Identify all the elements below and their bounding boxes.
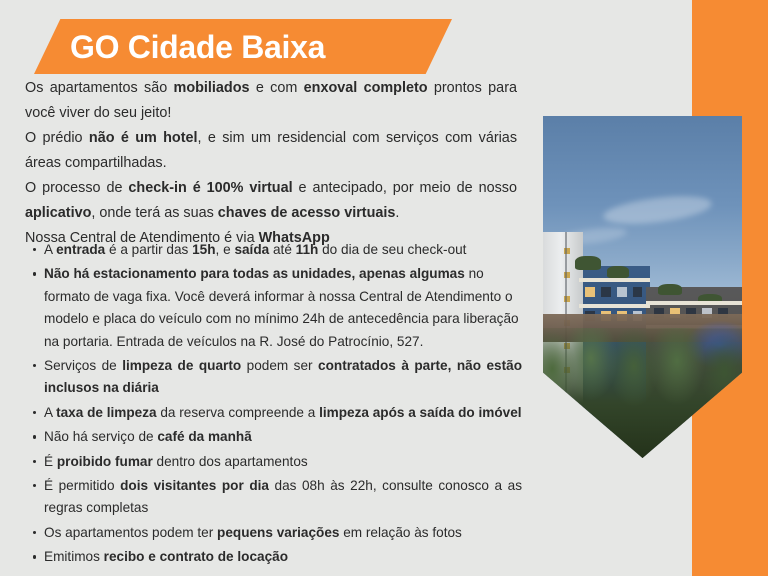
rule-text: em relação às fotos — [339, 525, 461, 540]
window-pane — [585, 287, 595, 297]
rule-list-item: Não há serviço de café da manhã — [30, 426, 522, 448]
rule-emphasis: proibido fumar — [57, 454, 153, 469]
intro-p3-text-1: O processo de — [25, 180, 128, 196]
rule-text: Não há serviço de — [44, 429, 157, 444]
rooftop-greenery — [575, 256, 601, 270]
intro-p1-text-2: e com — [250, 80, 304, 96]
rule-list-item: É permitido dois visitantes por dia das … — [30, 475, 522, 520]
rule-text: do dia de seu check-out — [318, 242, 466, 257]
rule-emphasis: dois visitantes por dia — [120, 478, 269, 493]
rule-emphasis: Não há estacionamento para todas as unid… — [44, 266, 465, 281]
rule-text: A — [44, 405, 56, 420]
intro-p3-bold-3: chaves de acesso virtuais — [218, 205, 396, 221]
rule-list-item: A taxa de limpeza da reserva compreende … — [30, 402, 522, 424]
rule-text: Serviços de — [44, 358, 122, 373]
intro-p3-text-2: e antecipado, por meio de nosso — [293, 180, 517, 196]
rule-list-item: É proibido fumar dentro dos apartamentos — [30, 451, 522, 473]
page-title: GO Cidade Baixa — [70, 31, 325, 63]
intro-p3-bold-2: aplicativo — [25, 205, 91, 221]
tower-window-slot — [564, 296, 570, 302]
tower-window-slot — [564, 272, 570, 278]
intro-p1-text-1: Os apartamentos são — [25, 80, 174, 96]
rule-emphasis: saída — [234, 242, 269, 257]
intro-p3-text-3: , onde terá as suas — [91, 205, 217, 221]
rule-emphasis: pequens variações — [217, 525, 339, 540]
rule-text: da reserva compreende a — [157, 405, 319, 420]
intro-p3-text-4: . — [395, 205, 399, 221]
tower-window-slot — [564, 248, 570, 254]
rule-emphasis: 11h — [296, 242, 319, 257]
rule-emphasis: 15h — [192, 242, 215, 257]
window-pane — [617, 287, 627, 297]
rule-list-item: Não há estacionamento para todas as unid… — [30, 263, 522, 353]
facade-cornice — [579, 304, 651, 308]
rule-list-item: Serviços de limpeza de quarto podem ser … — [30, 355, 522, 400]
rule-list-item: Emitimos recibo e contrato de locação — [30, 546, 522, 568]
intro-paragraph-3: O processo de check-in é 100% virtual e … — [25, 176, 517, 226]
rule-emphasis: limpeza após a saída do imóvel — [319, 405, 521, 420]
facade-cornice — [579, 278, 651, 282]
rule-text: , e — [216, 242, 235, 257]
header-banner: GO Cidade Baixa — [34, 19, 452, 74]
rule-text: Emitimos — [44, 549, 104, 564]
intro-p1-bold-2: enxoval completo — [304, 80, 428, 96]
rule-list-item: Os apartamentos podem ter pequens variaç… — [30, 522, 522, 544]
intro-p1-bold-1: mobiliados — [174, 80, 250, 96]
rule-text: A — [44, 242, 56, 257]
facade-cornice — [646, 301, 742, 305]
window-pane — [601, 287, 611, 297]
window-pane — [633, 287, 643, 297]
rule-text: é a partir das — [105, 242, 192, 257]
rule-emphasis: café da manhã — [157, 429, 251, 444]
intro-text-block: Os apartamentos são mobiliados e com enx… — [25, 76, 517, 251]
rule-emphasis: limpeza de quarto — [122, 358, 241, 373]
intro-p2-bold-1: não é um hotel — [89, 130, 198, 146]
promo-page: GO Cidade Baixa Os apartamentos são mobi… — [0, 0, 768, 576]
rule-text: até — [269, 242, 295, 257]
rule-text: É permitido — [44, 478, 120, 493]
rule-list-item: A entrada é a partir das 15h, e saída at… — [30, 239, 522, 261]
rooftop-greenery — [607, 266, 629, 278]
intro-paragraph-2: O prédio não é um hotel, e sim um reside… — [25, 126, 517, 176]
rooftop-greenery — [658, 284, 682, 296]
rule-emphasis: entrada — [56, 242, 105, 257]
intro-p3-bold-1: check-in é 100% virtual — [128, 180, 292, 196]
intro-paragraph-1: Os apartamentos são mobiliados e com enx… — [25, 76, 517, 126]
rules-bullet-list: A entrada é a partir das 15h, e saída at… — [30, 239, 522, 571]
rule-text: Os apartamentos podem ter — [44, 525, 217, 540]
intro-p2-text-1: O prédio — [25, 130, 89, 146]
rule-emphasis: taxa de limpeza — [56, 405, 157, 420]
cloud-wisp-a — [602, 191, 714, 228]
rule-text: É — [44, 454, 57, 469]
rule-text: podem ser — [241, 358, 318, 373]
rule-emphasis: recibo e contrato de locação — [104, 549, 288, 564]
rule-text: dentro dos apartamentos — [153, 454, 308, 469]
